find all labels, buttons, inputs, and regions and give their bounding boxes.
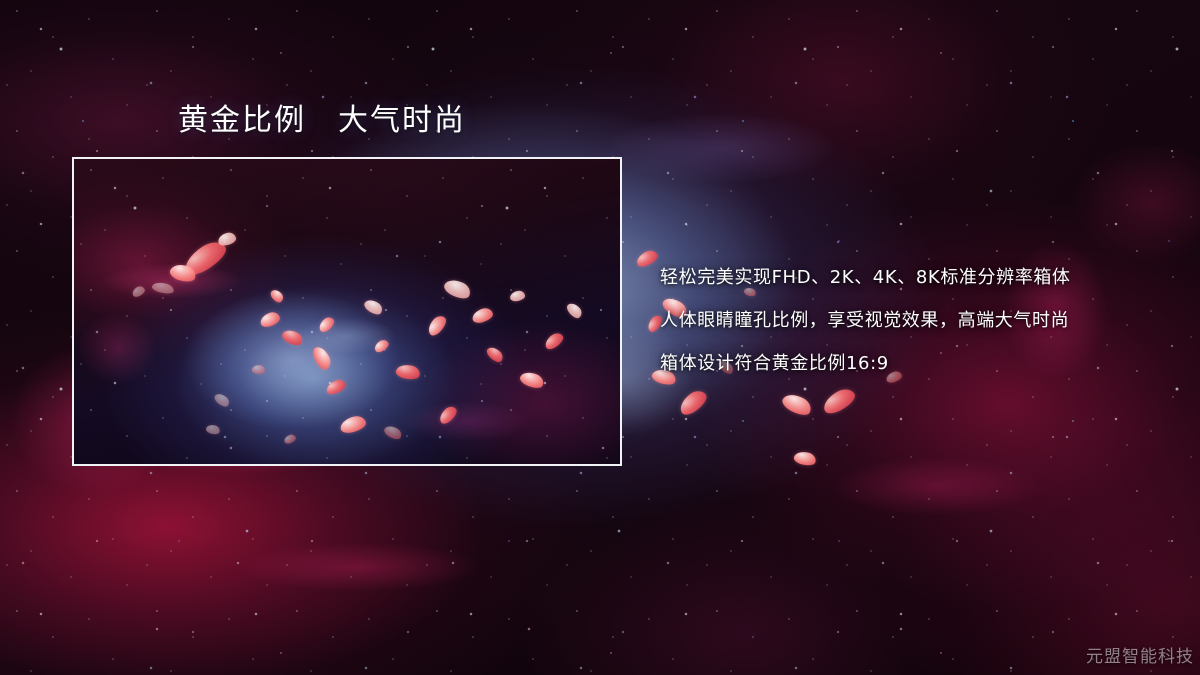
brand-watermark: 元盟智能科技 xyxy=(1086,642,1194,667)
feature-line-3: 箱体设计符合黄金比例16:9 xyxy=(660,342,1180,385)
product-image-frame xyxy=(72,157,622,466)
feature-line-2: 人体眼睛瞳孔比例，享受视觉效果，高端大气时尚 xyxy=(660,299,1180,342)
feature-line-1: 轻松完美实现FHD、2K、4K、8K标准分辨率箱体 xyxy=(660,256,1180,299)
page-title: 黄金比例 大气时尚 xyxy=(178,102,466,140)
slide-canvas: 黄金比例 大气时尚 轻松完美实现FHD、2K、4K、8K标准分辨率箱体 人体眼睛… xyxy=(0,0,1200,675)
feature-text-block: 轻松完美实现FHD、2K、4K、8K标准分辨率箱体 人体眼睛瞳孔比例，享受视觉效… xyxy=(660,256,1180,385)
